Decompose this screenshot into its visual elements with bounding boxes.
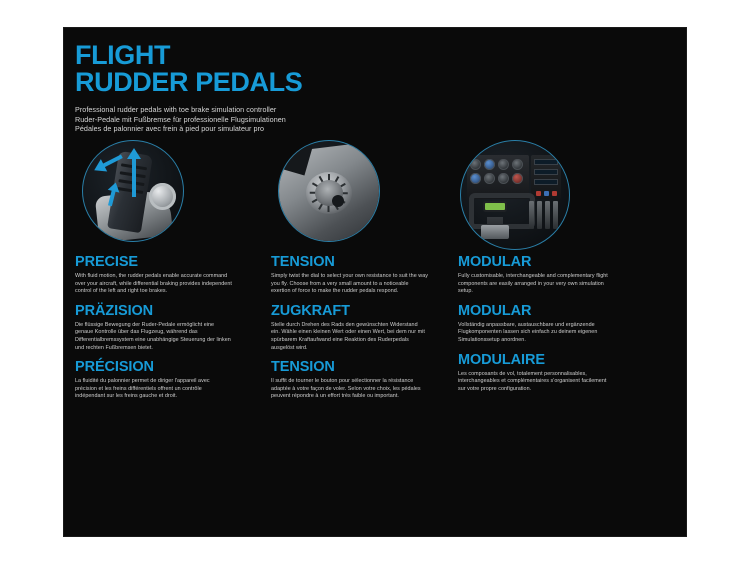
feature-heading-en: MODULAR: [458, 254, 626, 270]
tier-fr-tension: TENSION Il suffit de tourner le bouton p…: [271, 359, 439, 401]
warning-gauge-icon: [512, 173, 523, 184]
product-packaging-panel: FLIGHT RUDDER PEDALS Professional rudder…: [64, 28, 686, 536]
feature-body-en: With fluid motion, the rudder pedals ena…: [75, 273, 232, 296]
figure-modular: [458, 140, 608, 243]
dial-inner-ring-shape: [315, 180, 343, 206]
dial-hub-shape: [332, 195, 344, 207]
gauge-icon: [470, 159, 481, 170]
throttle-quadrant-shape: [529, 201, 561, 231]
cockpit-assembly-shape: [467, 151, 563, 239]
feature-body-fr: La fluidité du palonnier permet de dirig…: [75, 378, 232, 401]
tier-de-modular: MODULAR Vollständig anpassbare, austausc…: [458, 303, 626, 345]
throttle-lever: [537, 201, 542, 229]
tier-en-modular: MODULAR Fully customisable, interchangea…: [458, 254, 626, 296]
tension-dial-shape: [306, 172, 352, 214]
tier-de-precise: PRÄZISION Die flüssige Bewegung der Rude…: [75, 303, 243, 352]
tension-dial-photo: [278, 140, 380, 242]
switch-blue-icon: [544, 191, 549, 196]
feature-body-de: Die flüssige Bewegung der Ruder-Pedale e…: [75, 322, 232, 352]
gauge-icon: [498, 159, 509, 170]
header-block: FLIGHT RUDDER PEDALS Professional rudder…: [75, 42, 495, 134]
feature-column-modular: MODULAR Fully customisable, interchangea…: [458, 140, 626, 400]
product-title-line-2: RUDDER PEDALS: [75, 69, 495, 96]
tier-en-precise: PRECISE With fluid motion, the rudder pe…: [75, 254, 243, 296]
yoke-green-display-icon: [485, 203, 505, 210]
feature-body-en: Fully customisable, interchangeable and …: [458, 273, 615, 296]
throttle-lever: [529, 201, 534, 229]
radio-display-icon: [534, 179, 558, 185]
tier-fr-precise: PRÉCISION La fluidité du palonnier perme…: [75, 359, 243, 401]
pedal-tension-knob-shape: [149, 183, 176, 210]
rudder-pedal-motion-photo: [82, 140, 184, 242]
feature-heading-fr: MODULAIRE: [458, 352, 626, 368]
subtitle-group: Professional rudder pedals with toe brak…: [75, 105, 495, 134]
tier-en-tension: TENSION Simply twist the dial to select …: [271, 254, 439, 296]
gauge-icon: [498, 173, 509, 184]
radio-display-icon: [534, 159, 558, 165]
page-root: FLIGHT RUDDER PEDALS Professional rudder…: [0, 0, 750, 563]
feature-body-de: Stelle durch Drehen des Rads den gewünsc…: [271, 322, 428, 352]
radio-display-icon: [534, 169, 558, 175]
radio-stack-shape: [531, 155, 561, 199]
attitude-indicator-icon: [484, 159, 495, 170]
gauge-icon: [512, 159, 523, 170]
pedal-tread-line: [117, 187, 143, 194]
subtitle-fr: Pédales de palonnier avec frein à pied p…: [75, 124, 495, 134]
feature-heading-fr: PRÉCISION: [75, 359, 243, 375]
tier-fr-modular: MODULAIRE Les composants de vol, totalem…: [458, 352, 626, 394]
feature-body-de: Vollständig anpassbare, austauschbare un…: [458, 322, 615, 345]
heading-indicator-icon: [470, 173, 481, 184]
feature-column-precise: PRECISE With fluid motion, the rudder pe…: [75, 140, 243, 408]
feature-body-fr: Il suffit de tourner le bouton pour séle…: [271, 378, 428, 401]
gauge-icon: [484, 173, 495, 184]
yoke-base-shape: [481, 225, 509, 239]
feature-heading-en: PRECISE: [75, 254, 243, 270]
motion-arrow-up-icon: [132, 157, 136, 197]
feature-heading-de: ZUGKRAFT: [271, 303, 439, 319]
feature-heading-de: MODULAR: [458, 303, 626, 319]
feature-heading-de: PRÄZISION: [75, 303, 243, 319]
switch-red-icon: [552, 191, 557, 196]
feature-heading-en: TENSION: [271, 254, 439, 270]
feature-heading-fr: TENSION: [271, 359, 439, 375]
subtitle-de: Ruder-Pedale mit Fußbremse für professio…: [75, 115, 495, 125]
throttle-lever: [553, 201, 558, 229]
figure-precise: [75, 140, 225, 243]
product-title-line-1: FLIGHT: [75, 42, 495, 69]
figure-tension: [271, 140, 421, 243]
feature-column-tension: TENSION Simply twist the dial to select …: [271, 140, 439, 408]
modular-cockpit-setup-photo: [460, 140, 570, 250]
dial-tick: [328, 205, 330, 212]
feature-body-fr: Les composants de vol, totalement person…: [458, 371, 615, 394]
feature-body-en: Simply twist the dial to select your own…: [271, 273, 428, 296]
throttle-lever: [545, 201, 550, 229]
subtitle-en: Professional rudder pedals with toe brak…: [75, 105, 495, 115]
tier-de-tension: ZUGKRAFT Stelle durch Drehen des Rads de…: [271, 303, 439, 352]
switch-red-icon: [536, 191, 541, 196]
